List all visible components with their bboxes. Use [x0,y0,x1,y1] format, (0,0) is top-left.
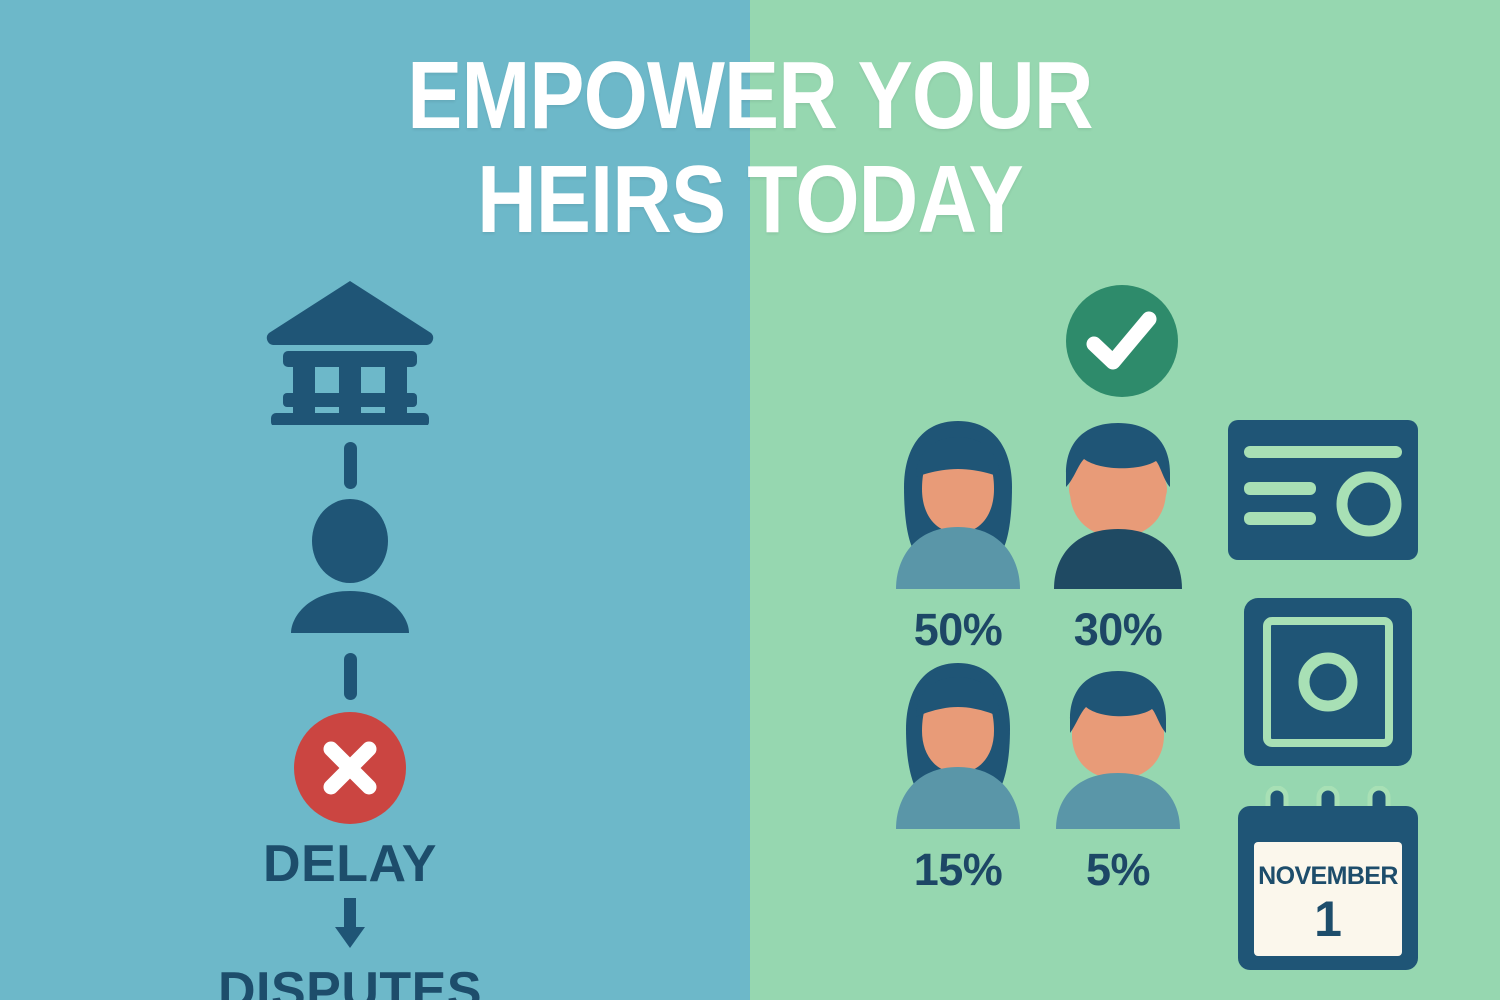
girl-avatar-icon [884,655,1032,835]
bank-icon [265,275,435,430]
heir-allocation-grid: 50% 30% [878,415,1198,895]
page-title-line-2: HEIRS TODAY [105,148,1395,252]
boy-avatar-icon [1044,655,1192,835]
heir-percent: 30% [1074,607,1163,652]
problem-flow: DELAY DISPUTES [180,275,520,1000]
man-avatar-icon [1044,415,1192,595]
calendar-icon: NOVEMBER 1 [1234,786,1422,972]
connector-dash-icon [344,653,357,700]
heir-cell: 30% [1038,415,1198,655]
heir-cell: 15% [878,655,1038,895]
calendar-day-label: 1 [1234,894,1422,944]
safe-icon [1244,598,1412,771]
disputes-label: DISPUTES [218,965,482,1000]
down-arrow-icon [333,898,367,955]
id-card-icon [1228,420,1418,565]
heir-percent: 5% [1086,847,1150,892]
page-title: EMPOWER YOUR HEIRS TODAY [105,44,1395,251]
calendar-month-label: NOVEMBER [1234,862,1422,891]
woman-avatar-icon [884,415,1032,595]
heir-percent: 50% [914,607,1003,652]
x-circle-icon [294,712,406,824]
page-title-line-1: EMPOWER YOUR [105,44,1395,148]
connector-dash-icon [344,442,357,489]
check-circle-icon [1066,285,1178,397]
delay-label: DELAY [263,838,437,890]
person-icon [285,499,415,639]
heir-cell: 50% [878,415,1038,655]
heir-percent: 15% [914,847,1003,892]
infographic-canvas: EMPOWER YOUR HEIRS TODAY [0,0,1500,1000]
heir-cell: 5% [1038,655,1198,895]
